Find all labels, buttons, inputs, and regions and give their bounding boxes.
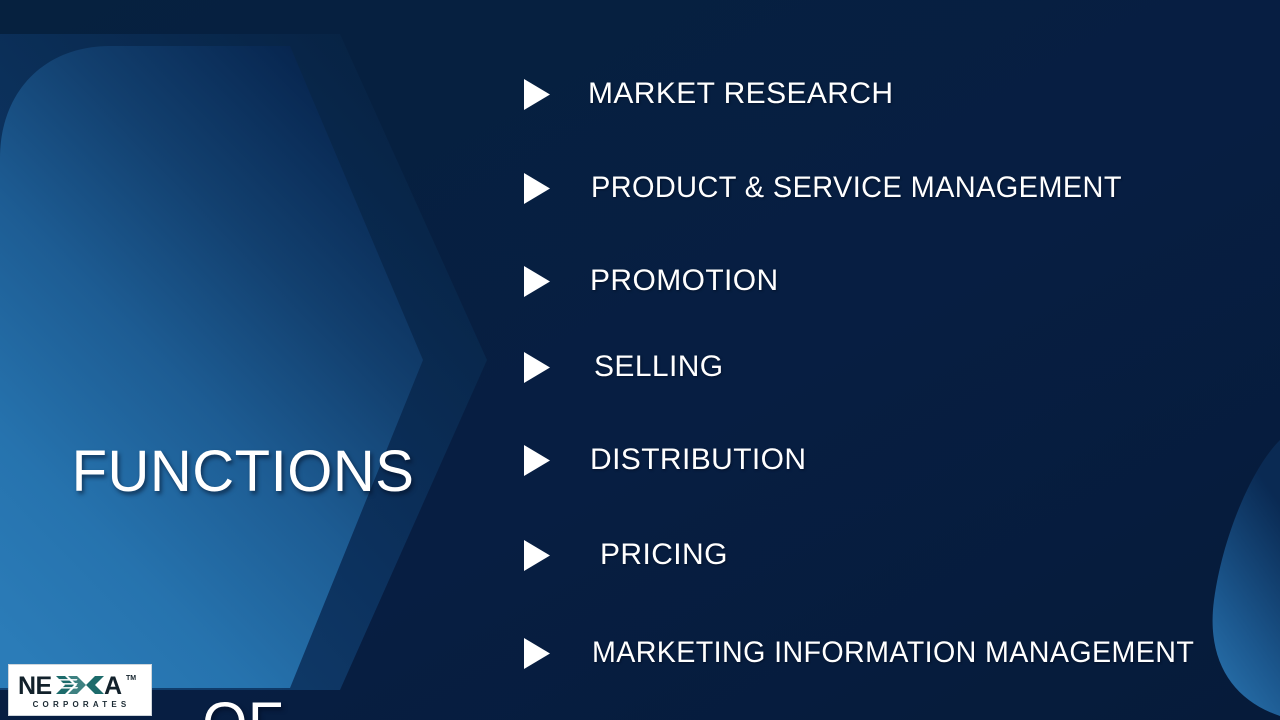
list-item: MARKETING INFORMATION MANAGEMENT (524, 629, 1223, 677)
logo-tagline: CORPORATES (33, 700, 131, 709)
list-item: SELLING (524, 343, 724, 391)
play-triangle-icon (524, 638, 550, 669)
svg-text:A: A (104, 672, 122, 699)
play-triangle-icon (524, 266, 550, 297)
play-triangle-icon (524, 540, 550, 571)
list-item-label: PRODUCT & SERVICE MANAGEMENT (591, 171, 1122, 205)
list-item-label: MARKET RESEARCH (588, 77, 894, 111)
list-item: PRICING (524, 531, 728, 579)
list-item: MARKET RESEARCH (524, 70, 894, 118)
list-item-label: PROMOTION (590, 264, 779, 298)
svg-text:NE: NE (18, 672, 52, 699)
list-item-label: PRICING (600, 538, 728, 572)
list-item: PRODUCT & SERVICE MANAGEMENT (524, 164, 1141, 212)
list-item: DISTRIBUTION (524, 436, 806, 484)
svg-text:TM: TM (126, 675, 136, 682)
title-line-1: FUNCTIONS (0, 430, 486, 514)
corner-blob-shape (1213, 440, 1280, 716)
play-triangle-icon (524, 352, 550, 383)
slide-canvas: FUNCTIONS OF MARKETING MARKET RESEARCH P… (0, 0, 1280, 720)
play-triangle-icon (524, 173, 550, 204)
company-logo: NE A TM CORPORATES (8, 664, 152, 716)
play-triangle-icon (524, 79, 550, 110)
list-item-label: DISTRIBUTION (590, 443, 806, 477)
list-item-label: MARKETING INFORMATION MANAGEMENT (592, 636, 1194, 670)
list-item-label: SELLING (594, 350, 724, 384)
list-item: PROMOTION (524, 257, 779, 305)
page-title: FUNCTIONS OF MARKETING (0, 262, 486, 720)
play-triangle-icon (524, 445, 550, 476)
nexxa-wordmark-icon: NE A TM (16, 671, 144, 699)
